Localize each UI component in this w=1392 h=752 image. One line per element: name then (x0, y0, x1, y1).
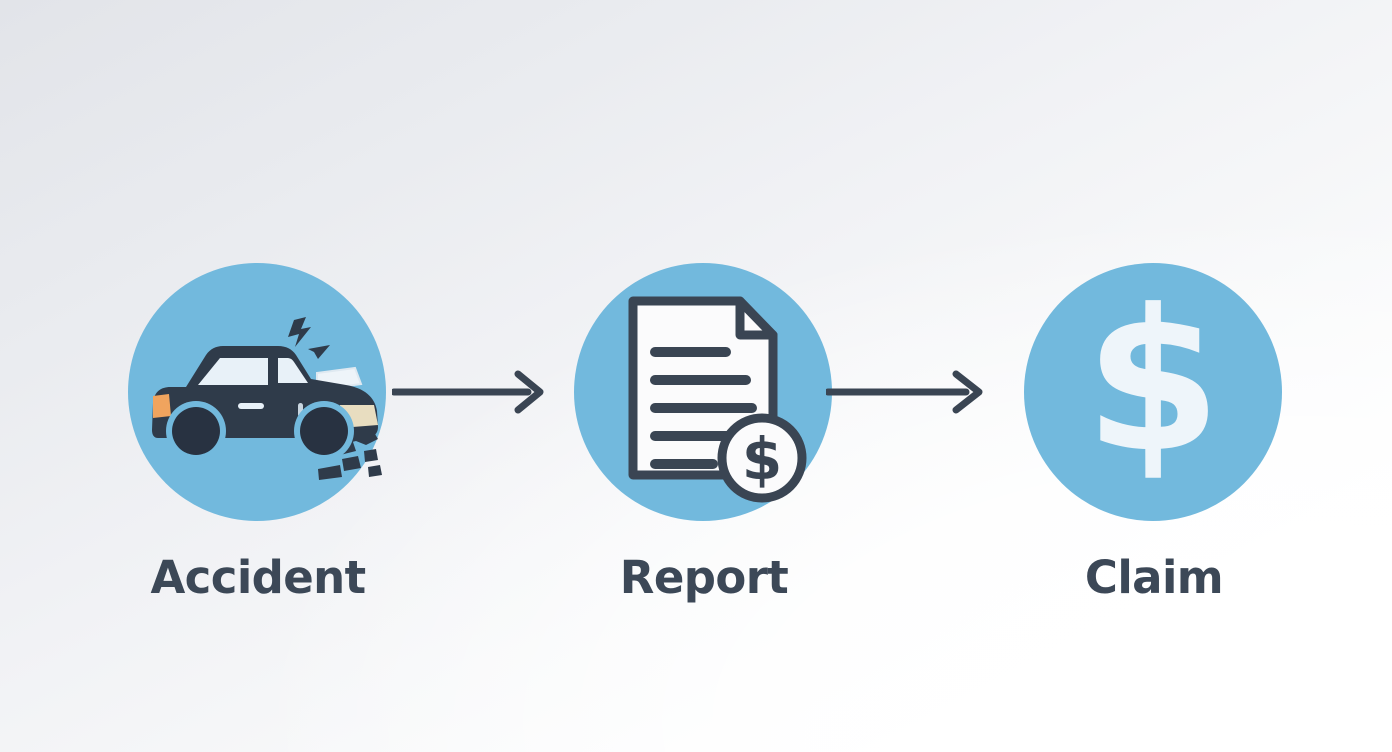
dollar-sign-icon: $ (1024, 263, 1282, 521)
svg-text:$: $ (1085, 268, 1221, 496)
flow-step-claim[interactable]: $ Claim (1024, 263, 1284, 600)
step-circle-report: $ (574, 263, 832, 521)
step-label-claim: Claim (1024, 555, 1284, 600)
crashed-car-icon (128, 263, 386, 521)
process-flow: Accident (0, 0, 1392, 752)
step-label-report: Report (574, 555, 834, 600)
document-with-dollar-icon: $ (574, 263, 832, 521)
diagram-canvas: Accident (0, 0, 1392, 752)
step-label-accident: Accident (128, 555, 388, 600)
arrow-report-to-claim (826, 362, 992, 422)
step-circle-accident (128, 263, 386, 521)
svg-text:$: $ (742, 425, 782, 493)
flow-step-accident[interactable]: Accident (128, 263, 388, 600)
step-circle-claim: $ (1024, 263, 1282, 521)
arrow-accident-to-report (392, 362, 552, 422)
flow-step-report[interactable]: $ Report (574, 263, 834, 600)
